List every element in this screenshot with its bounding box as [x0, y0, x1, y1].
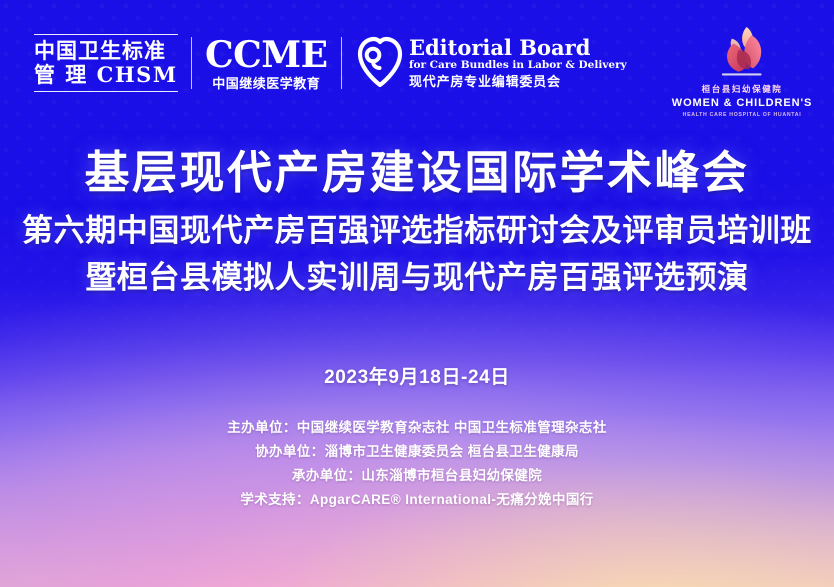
page-title: 基层现代产房建设国际学术峰会: [0, 146, 834, 199]
logo-divider-2: [341, 37, 342, 89]
chsm-line2: 管 理 CHSM: [34, 63, 178, 87]
organizer-label: 学术支持：: [240, 492, 310, 507]
organizer-value: ApgarCARE® International-无痛分娩中国行: [310, 492, 594, 507]
organizer-value: 中国继续医学教育杂志社 中国卫生标准管理杂志社: [297, 420, 607, 435]
editorial-board-subtitle: for Care Bundles in Labor & Delivery: [409, 60, 627, 71]
logo-editorial-board: Editorial Board for Care Bundles in Labo…: [409, 37, 627, 89]
ccme-chinese: 中国继续医学教育: [212, 77, 320, 90]
logo-ccme: CCME 中国继续医学教育: [205, 37, 328, 90]
organizer-value: 淄博市卫生健康委员会 桓台县卫生健康局: [325, 444, 579, 459]
organizer-row: 协办单位：淄博市卫生健康委员会 桓台县卫生健康局: [0, 440, 834, 464]
organizer-row: 学术支持：ApgarCARE® International-无痛分娩中国行: [0, 488, 834, 512]
organizer-value: 山东淄博市桓台县妇幼保健院: [361, 468, 542, 483]
ccme-acronym: CCME: [205, 37, 328, 73]
editorial-board-title: Editorial Board: [409, 37, 627, 59]
hospital-english-name: WOMEN & CHILDREN'S: [672, 97, 812, 109]
organizer-label: 承办单位：: [292, 468, 362, 483]
chsm-line1: 中国卫生标准: [34, 39, 178, 63]
sponsor-logo-bar: 中国卫生标准 管 理 CHSM CCME 中国继续医学教育 Editorial …: [34, 30, 627, 96]
organizer-label: 协办单位：: [255, 444, 325, 459]
lotus-flower-icon: [692, 22, 791, 80]
organizer-label: 主办单位：: [227, 420, 297, 435]
logo-chsm: 中国卫生标准 管 理 CHSM: [34, 34, 178, 91]
editorial-board-chinese: 现代产房专业编辑委员会: [409, 75, 627, 89]
heart-baby-icon: [357, 35, 403, 92]
subtitle-line-1: 第六期中国现代产房百强评选指标研讨会及评审员培训班: [0, 208, 834, 255]
organizer-row: 主办单位：中国继续医学教育杂志社 中国卫生标准管理杂志社: [0, 416, 834, 440]
conference-poster: 中国卫生标准 管 理 CHSM CCME 中国继续医学教育 Editorial …: [0, 0, 834, 587]
subtitle-line-2: 暨桓台县模拟人实训周与现代产房百强评选预演: [0, 255, 834, 302]
hospital-chinese-name: 桓台县妇幼保健院: [702, 83, 783, 95]
logo-divider: [191, 37, 192, 89]
event-date: 2023年9月18日-24日: [0, 362, 834, 389]
organizer-row: 承办单位：山东淄博市桓台县妇幼保健院: [0, 464, 834, 488]
hospital-logo: 桓台县妇幼保健院 WOMEN & CHILDREN'S HEALTH CARE …: [676, 22, 808, 118]
hospital-tagline: HEALTH CARE HOSPITAL OF HUANTAI: [683, 112, 802, 118]
title-area: 基层现代产房建设国际学术峰会 第六期中国现代产房百强评选指标研讨会及评审员培训班…: [0, 146, 834, 301]
organizer-list: 主办单位：中国继续医学教育杂志社 中国卫生标准管理杂志社 协办单位：淄博市卫生健…: [0, 416, 834, 512]
